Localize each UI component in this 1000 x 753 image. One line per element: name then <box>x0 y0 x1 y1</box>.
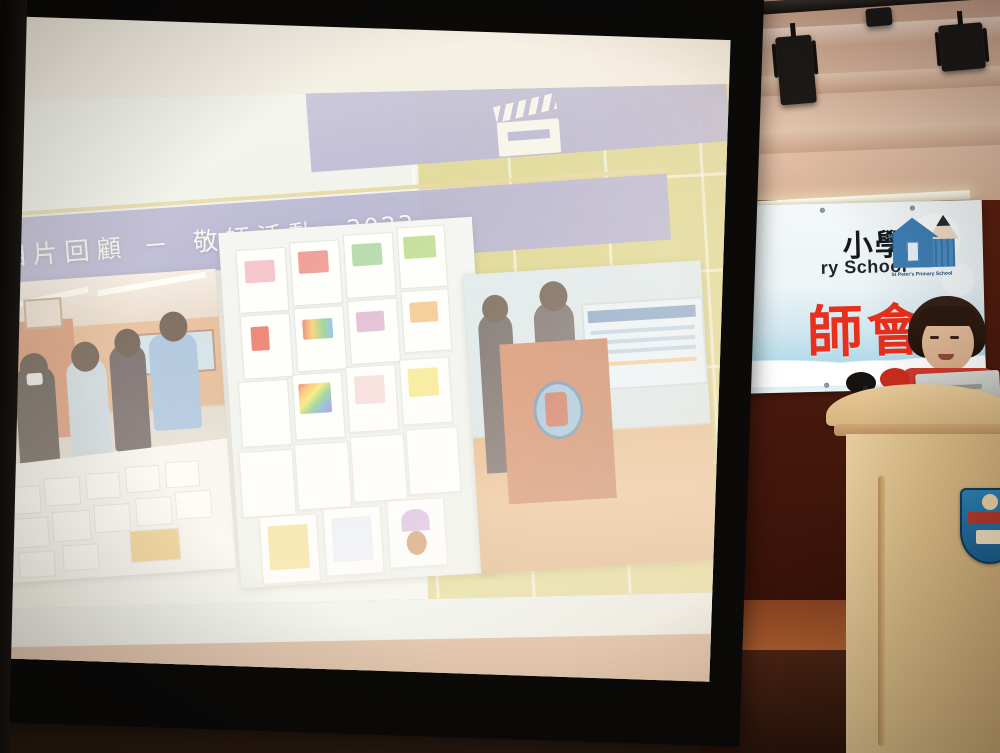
slide-title-prefix: 相片回顧 － <box>0 225 176 274</box>
slide-photo-drawings-wall <box>218 217 494 589</box>
wooden-podium <box>846 434 1000 753</box>
slide-photo-podium-speakers <box>463 260 719 574</box>
pta-logo-subtitle: St Peter's Primary School <box>891 270 969 278</box>
podium-edge-trim <box>878 476 885 746</box>
pta-house-pencil-logo-icon: PTA St Peter's Primary School <box>884 212 970 290</box>
clapperboard-icon <box>496 102 562 157</box>
presentation-hall-scene: 小學 ry School 師會 PTA St Peter's Primary S… <box>0 0 1000 753</box>
banner-grommet <box>820 208 825 213</box>
pta-initials: PTA <box>886 234 893 251</box>
stage-light-icon <box>775 35 817 106</box>
banner-grommet <box>910 206 915 211</box>
slide-photo-cards-table <box>0 269 236 584</box>
stage-light-icon <box>865 7 892 27</box>
stage-light-icon <box>938 22 986 72</box>
banner-grommet <box>824 383 829 388</box>
projector-screen-frame: 相片回顧 － 敬師活動 2023 <box>0 0 764 747</box>
projected-slide: 相片回顧 － 敬師活動 2023 <box>0 84 731 609</box>
projector-screen-surface: 相片回顧 － 敬師活動 2023 <box>0 16 731 681</box>
banner-event-title-cn: 師會 <box>724 285 928 372</box>
